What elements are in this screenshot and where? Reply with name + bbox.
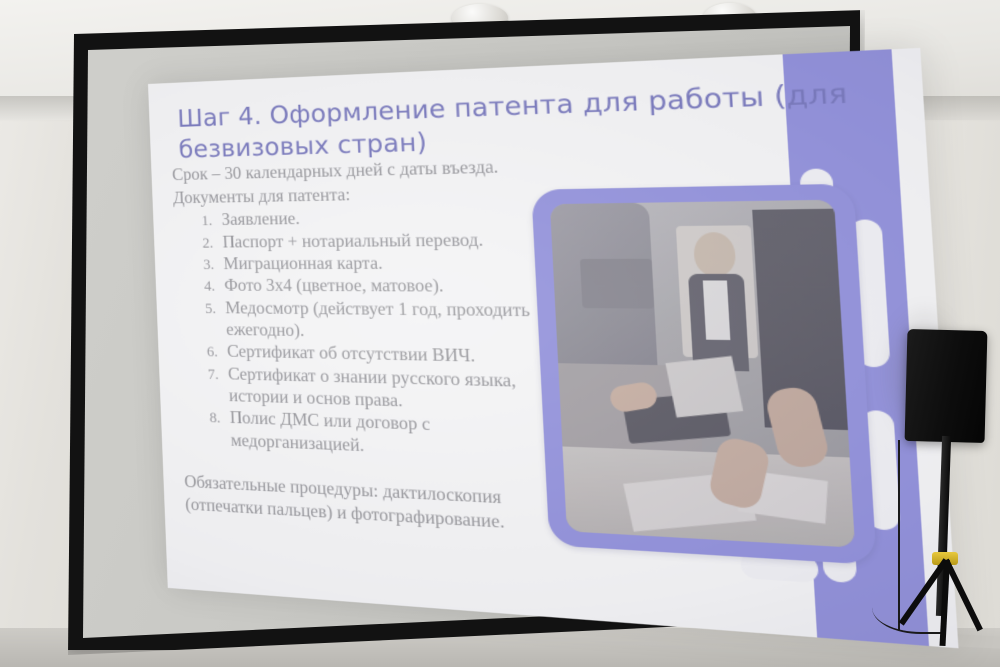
slide-photo	[550, 200, 855, 548]
list-item: Полис ДМС или договор с медорганизацией.	[224, 406, 546, 464]
presentation-slide[interactable]: Шаг 4. Оформление патента для работы (дл…	[148, 48, 958, 648]
slide-title: Шаг 4. Оформление патента для работы (дл…	[177, 75, 887, 165]
list-item: Паспорт + нотариальный перевод.	[216, 227, 534, 252]
slide-tail-note: Обязательные процедуры: дактилоскопия (о…	[184, 470, 549, 536]
slide-holder: Шаг 4. Оформление патента для работы (дл…	[60, 10, 860, 650]
slide-body: Срок – 30 календарных дней с даты въезда…	[172, 154, 549, 536]
list-item: Миграционная карта.	[217, 251, 535, 275]
projection-screen-assembly: Шаг 4. Оформление патента для работы (дл…	[0, 0, 1000, 667]
documents-list: Заявление. Паспорт + нотариальный перево…	[174, 204, 546, 464]
list-item: Медосмотр (действует 1 год, проходить еж…	[219, 296, 539, 345]
list-item: Фото 3х4 (цветное, матовое).	[218, 274, 537, 298]
pa-speaker	[905, 329, 988, 443]
room-scene: Шаг 4. Оформление патента для работы (дл…	[0, 0, 1000, 667]
slide-photo-frame	[531, 184, 877, 565]
list-item: Заявление.	[215, 204, 533, 231]
